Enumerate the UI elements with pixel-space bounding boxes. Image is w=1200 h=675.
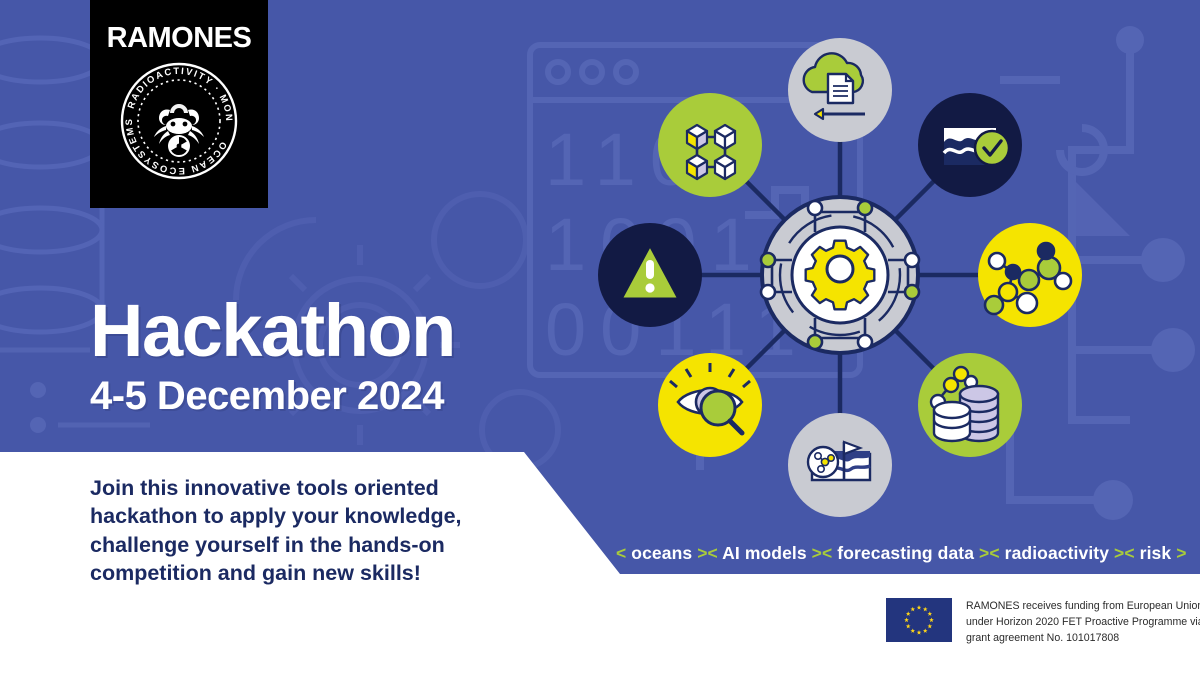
keyword-forecasting-data: forecasting data [837, 543, 974, 563]
node-database-stack [918, 353, 1022, 457]
bracket-open-5: < [1124, 543, 1134, 563]
bracket-open-3: < [822, 543, 832, 563]
keyword-oceans: oceans [631, 543, 692, 563]
keyword-strip: < oceans >< AI models >< forecasting dat… [616, 543, 1187, 564]
description-text: Join this innovative tools oriented hack… [90, 474, 520, 588]
topics-hub-diagram [560, 10, 1120, 540]
page-title: Hackathon [90, 295, 455, 366]
headline-block: Hackathon 4-5 December 2024 [90, 295, 455, 419]
svg-text:RADIOACTIVITY · MONITORING IN: RADIOACTIVITY · MONITORING IN [118, 60, 235, 123]
bracket-open-4: < [989, 543, 999, 563]
ramones-seal-icon: RADIOACTIVITY · MONITORING IN OCEAN ECOS… [118, 60, 240, 182]
keyword-risk: risk [1140, 543, 1172, 563]
node-blockchain-cubes [658, 93, 762, 197]
logo-wordmark: RAMONES [90, 22, 268, 55]
description-line-1: Join this innovative tools oriented [90, 474, 520, 502]
eu-funding-block: RAMONES receives funding from European U… [886, 598, 1200, 646]
bracket-close-1: > [697, 543, 707, 563]
bracket-open-2: < [708, 543, 718, 563]
description-line-2: hackathon to apply your knowledge, [90, 502, 520, 530]
node-warning-triangle [598, 223, 702, 327]
ramones-logo-panel: RAMONES RADIOACTIVITY · MONITORING IN OC… [90, 0, 268, 208]
bracket-open-1: < [616, 543, 626, 563]
hub-node [761, 197, 919, 353]
description-line-3: challenge yourself in the hands-on [90, 531, 520, 559]
eu-funding-text: RAMONES receives funding from European U… [966, 598, 1200, 646]
eu-flag-icon [886, 598, 952, 642]
gear-icon [806, 241, 875, 310]
node-molecule-network [978, 223, 1082, 327]
keyword-ai-models: AI models [722, 543, 807, 563]
eu-funding-line-1: RAMONES receives funding from European U… [966, 598, 1200, 614]
node-wave-check [918, 93, 1022, 197]
bracket-close-4: > [1114, 543, 1124, 563]
bracket-close-5: > [1176, 543, 1186, 563]
eu-funding-line-3: grant agreement No. 101017808 [966, 630, 1200, 646]
bracket-close-2: > [812, 543, 822, 563]
hackathon-poster: 1100 1001 00111 [0, 0, 1200, 675]
description-line-4: competition and gain new skills! [90, 559, 520, 587]
node-eye-magnifier [658, 353, 762, 457]
keyword-radioactivity: radioactivity [1005, 543, 1109, 563]
wave-check-icon [944, 128, 1009, 165]
event-date: 4-5 December 2024 [90, 374, 455, 419]
bracket-close-3: > [979, 543, 989, 563]
eu-funding-line-2: under Horizon 2020 FET Proactive Program… [966, 614, 1200, 630]
node-cloud-document-download [788, 38, 892, 142]
node-ocean-flag-sensor [788, 413, 892, 517]
